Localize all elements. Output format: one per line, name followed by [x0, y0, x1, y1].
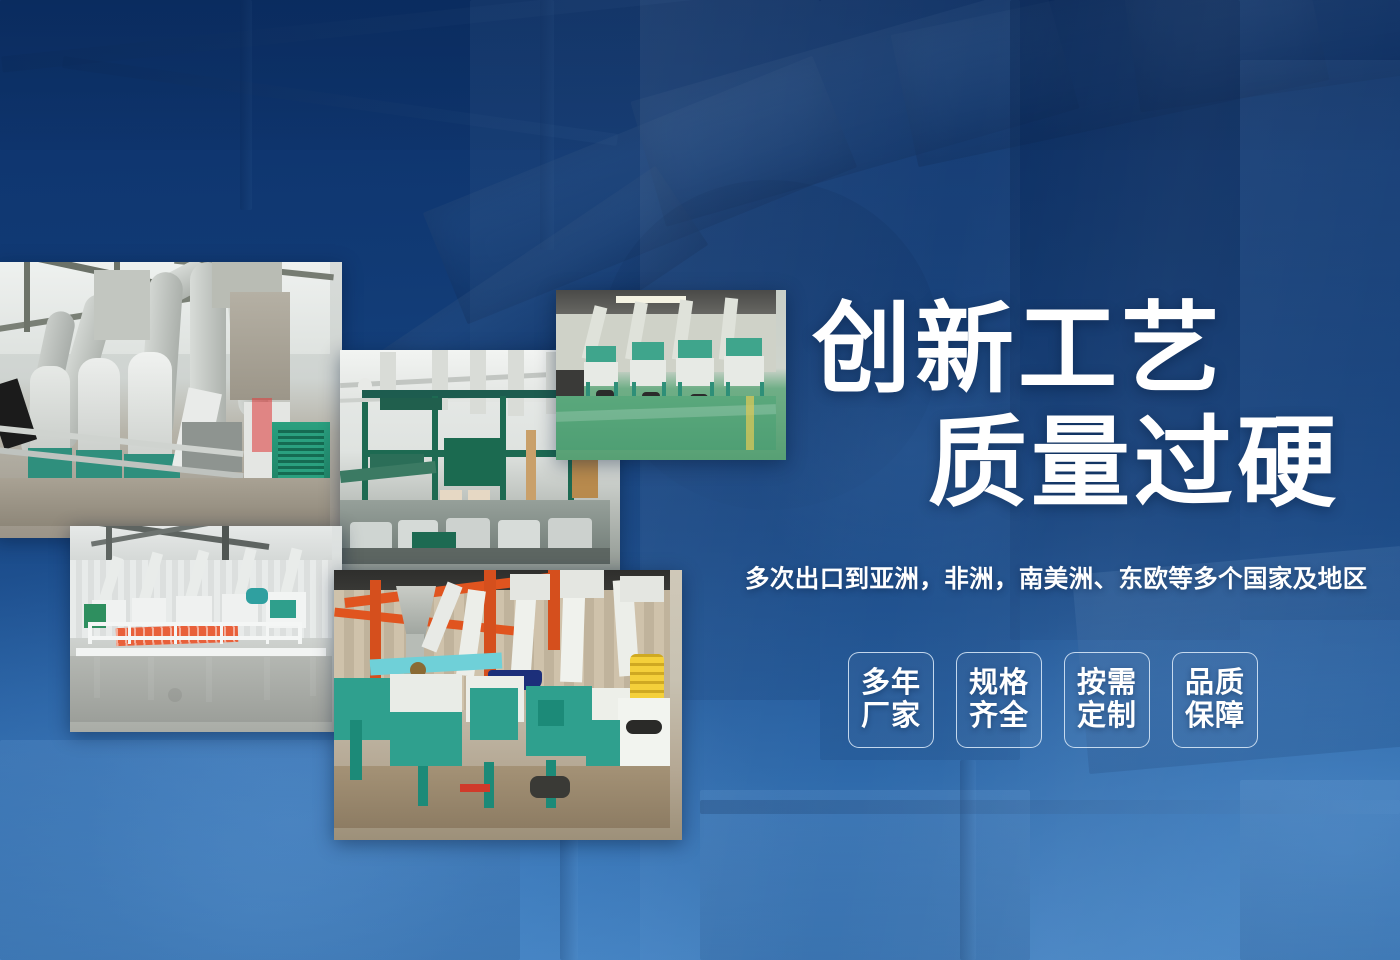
badge-line-bottom: 齐全 — [969, 700, 1029, 733]
badge-line-bottom: 定制 — [1077, 700, 1137, 733]
photo-teal-mills-orange-beams — [334, 570, 682, 840]
promo-banner: 创新工艺 质量过硬 多次出口到亚洲，非洲，南美洲、东欧等多个国家及地区 多年 厂… — [0, 0, 1400, 960]
badge-years-manufacturer[interactable]: 多年 厂家 — [848, 652, 934, 748]
badge-line-top: 多年 — [861, 667, 921, 700]
feature-badges: 多年 厂家 规格 齐全 按需 定制 品质 保障 — [848, 652, 1258, 748]
badge-line-top: 按需 — [1077, 667, 1137, 700]
badge-line-top: 品质 — [1185, 667, 1245, 700]
badge-line-bottom: 保障 — [1185, 700, 1245, 733]
photo-grey-duct-milling-line — [0, 262, 342, 538]
subtitle: 多次出口到亚洲，非洲，南美洲、东欧等多个国家及地区 — [745, 562, 1368, 598]
badge-quality-guarantee[interactable]: 品质 保障 — [1172, 652, 1258, 748]
badge-full-specifications[interactable]: 规格 齐全 — [956, 652, 1042, 748]
photo-teal-mills-green-floor — [556, 290, 786, 460]
badge-line-bottom: 厂家 — [861, 700, 921, 733]
headline-line-2: 质量过硬 — [928, 406, 1380, 520]
headline: 创新工艺 质量过硬 — [780, 292, 1380, 520]
badge-line-top: 规格 — [969, 667, 1029, 700]
badge-custom-on-demand[interactable]: 按需 定制 — [1064, 652, 1150, 748]
headline-line-1: 创新工艺 — [812, 292, 1380, 406]
photo-white-line-orange-conveyor — [70, 526, 342, 732]
